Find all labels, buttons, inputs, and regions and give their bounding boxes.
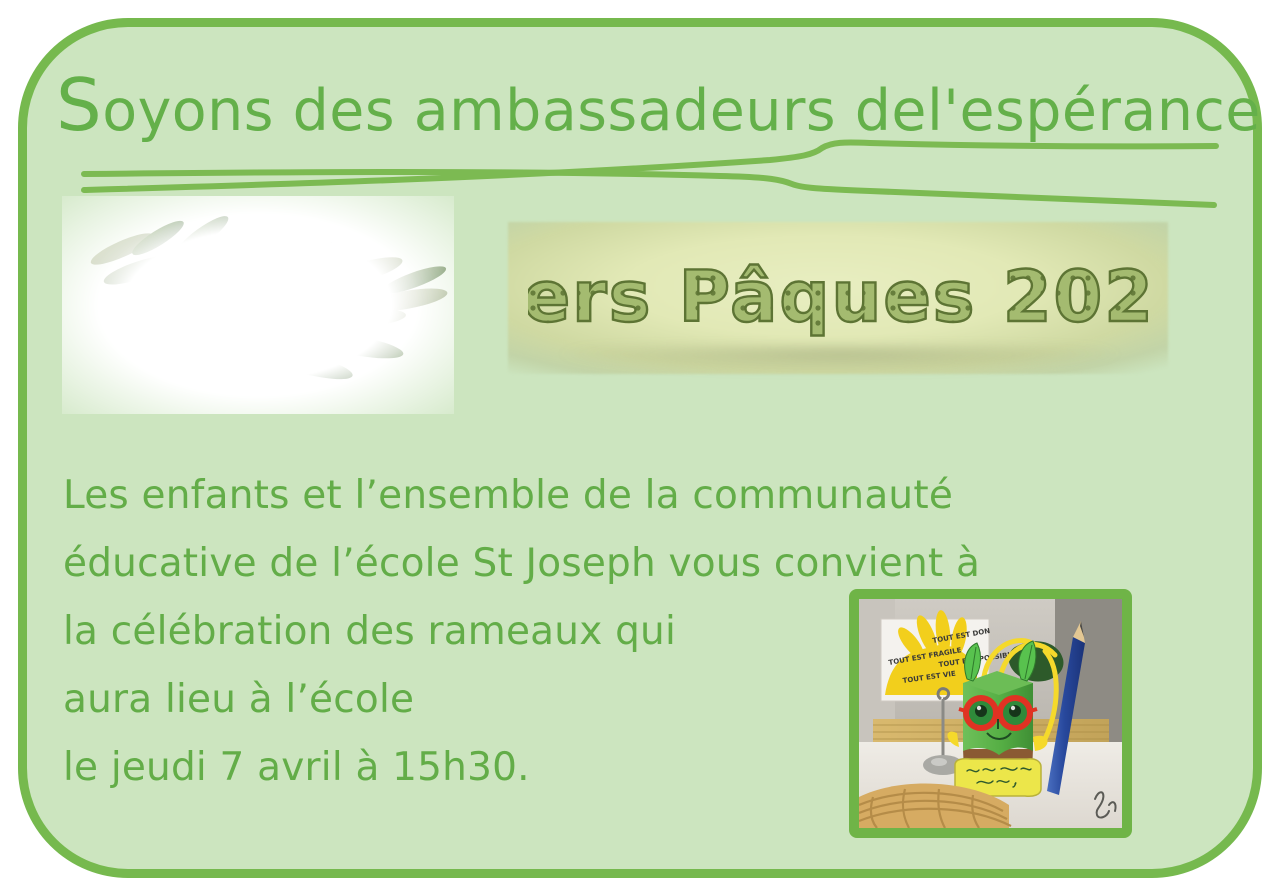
craft-photo-illustration: TOUT EST DON TOUT EST FRAGILE TOUT EST P… <box>859 599 1122 828</box>
olive-branch-photo <box>62 196 454 414</box>
craft-photo-note-text: Que devons-nous faire ? <box>859 828 860 829</box>
olive-branch-illustration <box>62 196 454 414</box>
paques-banner-title: Vers Pâques 2022 Vers Pâques 2022 <box>528 243 1148 353</box>
page-title-rest: oyons des ambassadeurs del'espérance <box>102 78 1261 144</box>
paques-banner: Vers Pâques 2022 Vers Pâques 2022 Vers P… <box>508 222 1168 374</box>
poster-root: Soyons des ambassadeurs del'espérance <box>0 0 1280 896</box>
easter-craft-photo: TOUT EST DON TOUT EST FRAGILE TOUT EST P… <box>849 589 1132 838</box>
page-title-initial: S <box>56 63 102 147</box>
paques-banner-text-wrap: Vers Pâques 2022 Vers Pâques 2022 <box>508 222 1168 374</box>
page-title: Soyons des ambassadeurs del'espérance <box>56 78 1216 144</box>
invitation-line: Les enfants et l’ensemble de la communau… <box>63 462 1173 530</box>
svg-text:Vers Pâques 2022: Vers Pâques 2022 <box>528 256 1148 338</box>
invitation-line: éducative de l’école St Joseph vous conv… <box>63 530 1173 598</box>
